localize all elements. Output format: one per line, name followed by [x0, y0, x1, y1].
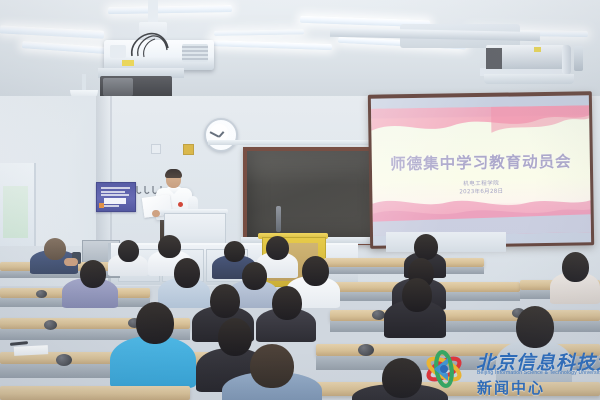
attendee-head — [272, 286, 302, 320]
projector-vent — [182, 44, 208, 62]
projector-cables — [128, 30, 172, 58]
attendee-head — [210, 284, 240, 318]
attendee-head — [158, 235, 181, 258]
ac-grille — [484, 74, 574, 84]
wall-seam — [110, 96, 112, 246]
side-whiteboard — [386, 232, 506, 252]
attendee-hand — [64, 258, 78, 266]
desk-seat-knob — [36, 290, 47, 298]
equipment-label — [534, 47, 541, 52]
presenter-badge — [178, 202, 183, 207]
attendee-head — [302, 256, 329, 286]
photo-scene: 师德集中学习教育动员会 机电工程学院 2023年6月28日 — [0, 0, 600, 400]
attendee-head — [224, 241, 245, 262]
attendee-head — [266, 236, 289, 260]
presenter-hair — [165, 169, 182, 178]
poster-emblem — [99, 203, 104, 208]
attendee-head — [44, 238, 66, 260]
attendee-head — [402, 278, 432, 312]
microphone-stand — [276, 206, 281, 232]
slide-wave-bot — [372, 190, 591, 235]
blackboard-sheen — [247, 151, 373, 185]
attendee-head — [562, 252, 589, 282]
pen — [10, 341, 28, 346]
attendee-head — [136, 302, 174, 344]
projector-lens — [110, 45, 126, 58]
wall-shadow — [96, 96, 110, 246]
ac-side-panel — [103, 78, 133, 96]
desk-seat-knob — [56, 354, 72, 366]
attendee-head — [250, 344, 294, 388]
wall-plate — [183, 144, 194, 155]
watermark-dept-cn: 新闻中心 — [477, 377, 545, 398]
student-desk — [0, 386, 190, 400]
board-rail — [208, 140, 388, 145]
watermark: 北京信息科技大学 Beijing Information Science & T… — [420, 346, 596, 396]
attendee-head — [516, 306, 554, 348]
door-window — [3, 186, 28, 238]
presenter-hand — [152, 210, 160, 217]
desk-front-panel — [330, 321, 600, 332]
desk-seat-knob — [358, 344, 374, 356]
attendee-head — [118, 240, 139, 262]
attendee-head — [218, 318, 252, 356]
slide-wave-top — [371, 105, 589, 134]
paper-sheet — [14, 345, 48, 356]
equipment-label — [122, 60, 134, 66]
attendee-head — [242, 262, 267, 290]
ac-side-panel — [486, 48, 502, 69]
desk-seat-knob — [44, 320, 57, 330]
ac-pipe — [562, 45, 571, 75]
attendee-head — [80, 260, 106, 288]
attendee-head — [414, 234, 438, 260]
spray-bottle — [574, 46, 583, 71]
attendee-head — [174, 258, 200, 288]
attendee-head — [382, 358, 422, 398]
projection-screen: 师德集中学习教育动员会 机电工程学院 2023年6月28日 — [371, 95, 591, 245]
slide-title: 师德集中学习教育动员会 — [372, 149, 590, 174]
watermark-org-en: Beijing Information Science & Technology… — [477, 370, 600, 376]
university-logo-icon — [420, 348, 472, 392]
poster-white-band — [104, 198, 126, 204]
student-desk — [330, 310, 600, 321]
wall-plate — [151, 144, 161, 154]
